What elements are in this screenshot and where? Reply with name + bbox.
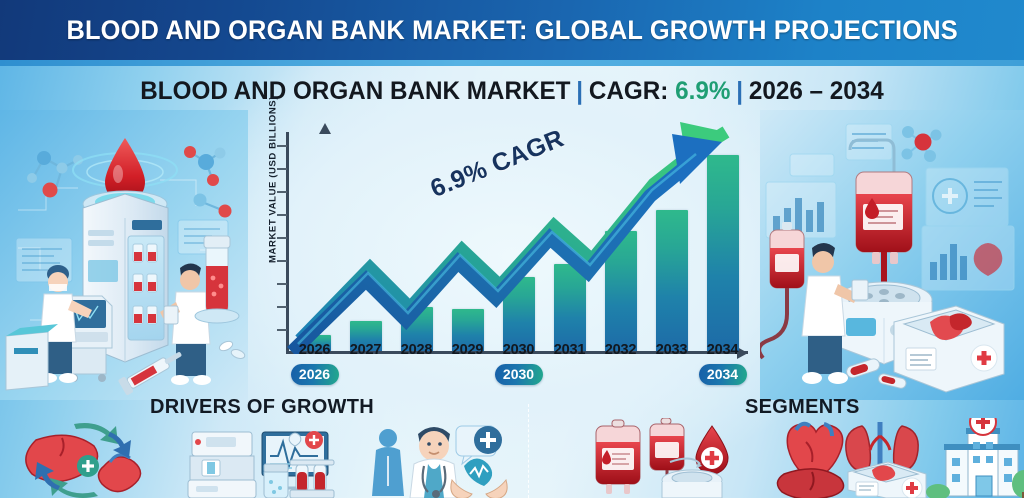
- x-label-2032: 2032: [595, 342, 646, 358]
- x-label-2026: 2026: [289, 342, 340, 358]
- drivers-heading: DRIVERS OF GROWTH: [150, 396, 374, 419]
- left-illustration-panel: [0, 110, 248, 400]
- bar-2032: [605, 231, 637, 351]
- lab-analyzer-icon: [188, 432, 256, 498]
- y-tick: [277, 306, 287, 309]
- y-tick: [277, 168, 287, 171]
- bar-2031: [554, 264, 586, 351]
- bar-2034: [707, 155, 739, 351]
- x-label-2034: 2034: [697, 342, 748, 358]
- right-illustration-panel: [760, 110, 1024, 400]
- y-tick: [277, 191, 287, 194]
- blood-processing-scene: [760, 110, 1024, 400]
- specimen-jar-icon: [264, 464, 288, 498]
- segments-heading: SEGMENTS: [745, 396, 860, 419]
- subtitle-separator-2: |: [736, 77, 743, 106]
- y-tick: [277, 283, 287, 286]
- x-label-2029: 2029: [442, 342, 493, 358]
- subtitle-bar: BLOOD AND ORGAN BANK MARKET | CAGR: 6.9%…: [15, 72, 1008, 110]
- section-divider: [528, 404, 529, 498]
- drivers-icon-row: [0, 418, 520, 498]
- hospital-building-icon: [926, 418, 1024, 498]
- y-axis-label: MARKET VALUE (USD BILLIONS): [268, 85, 279, 275]
- header-banner: BLOOD AND ORGAN BANK MARKET: GLOBAL GROW…: [0, 0, 1024, 60]
- x-label-2028: 2028: [391, 342, 442, 358]
- x-label-2031: 2031: [544, 342, 595, 358]
- segments-icon-row: [540, 418, 1024, 498]
- year-highlight-badges: 202620302034: [289, 364, 751, 386]
- badge-2034[interactable]: 2034: [699, 364, 747, 385]
- blood-bag-icon: [596, 420, 640, 494]
- subtitle-cagr-value: 6.9%: [675, 77, 730, 106]
- patient-silhouette-icon: [372, 429, 404, 496]
- liver-heart-exchange-icon: [26, 423, 141, 498]
- subtitle-cagr-label: CAGR:: [589, 77, 668, 106]
- x-label-2030: 2030: [493, 342, 544, 358]
- y-tick: [277, 329, 287, 332]
- liver-icon: [777, 469, 843, 498]
- x-axis-labels: 202620272028202920302031203220332034: [289, 342, 751, 362]
- badge-2030[interactable]: 2030: [495, 364, 543, 385]
- blood-bank-lab-scene: [0, 110, 248, 400]
- y-tick: [277, 145, 287, 148]
- y-tick: [277, 214, 287, 217]
- medical-cross-icon: [456, 426, 502, 464]
- y-tick: [277, 237, 287, 240]
- x-label-2027: 2027: [340, 342, 391, 358]
- growth-chart: MARKET VALUE (USD BILLIONS): [248, 116, 758, 354]
- bar-2030: [503, 277, 535, 351]
- subtitle-period: 2026 – 2034: [749, 77, 884, 106]
- heart-in-hands-icon: [451, 458, 507, 498]
- x-label-2033: 2033: [646, 342, 697, 358]
- badge-2026[interactable]: 2026: [291, 364, 339, 385]
- infographic-root: BLOOD AND ORGAN BANK MARKET: GLOBAL GROW…: [0, 0, 1024, 498]
- bar-2033: [656, 210, 688, 351]
- subtitle-market-name: BLOOD AND ORGAN BANK MARKET: [140, 77, 570, 106]
- subtitle-separator-1: |: [576, 77, 583, 106]
- page-title: BLOOD AND ORGAN BANK MARKET: GLOBAL GROW…: [66, 15, 957, 46]
- y-tick: [277, 260, 287, 263]
- blood-drop-cross-icon: [696, 426, 728, 474]
